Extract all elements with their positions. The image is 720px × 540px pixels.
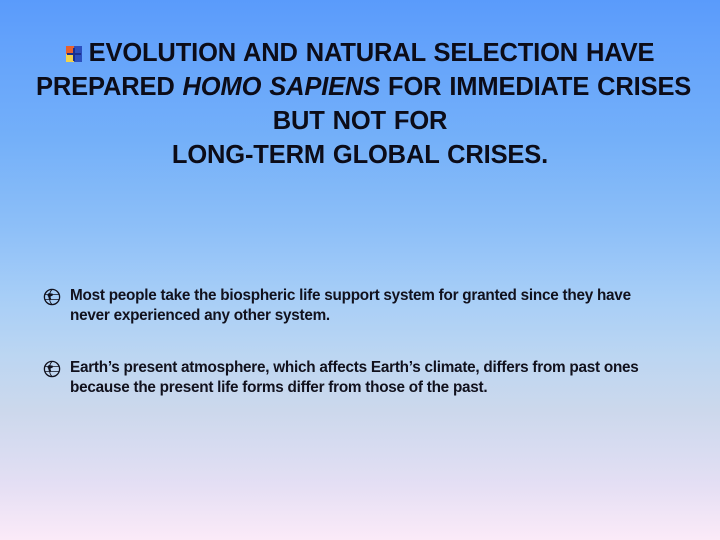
presentation-slide: EVOLUTION AND NATURAL SELECTION HAVE PRE… xyxy=(0,0,720,540)
title-line-2: PREPARED HOMO SAPIENS FOR IMMEDIATE CRIS… xyxy=(36,70,684,104)
list-item-text: Earth’s present atmosphere, which affect… xyxy=(70,358,661,398)
title-line-2-suffix: FOR IMMEDIATE CRISES xyxy=(380,73,691,101)
title-line-3: BUT NOT FOR xyxy=(36,104,684,138)
slide-title: EVOLUTION AND NATURAL SELECTION HAVE PRE… xyxy=(36,36,684,172)
title-line-2-prefix: PREPARED xyxy=(36,73,183,101)
title-line-4: LONG-TERM GLOBAL CRISES. xyxy=(36,138,684,172)
title-line-1: EVOLUTION AND NATURAL SELECTION HAVE xyxy=(36,36,684,70)
title-species-name: HOMO SAPIENS xyxy=(183,73,381,101)
globe-icon xyxy=(43,288,61,306)
globe-icon xyxy=(43,360,61,378)
list-item-text: Most people take the biospheric life sup… xyxy=(70,286,661,326)
list-item: Most people take the biospheric life sup… xyxy=(43,286,661,326)
four-quadrant-icon xyxy=(66,46,82,62)
list-item: Earth’s present atmosphere, which affect… xyxy=(43,358,661,398)
title-line-1-text: EVOLUTION AND NATURAL SELECTION HAVE xyxy=(89,39,655,67)
slide-body: Most people take the biospheric life sup… xyxy=(43,286,661,398)
